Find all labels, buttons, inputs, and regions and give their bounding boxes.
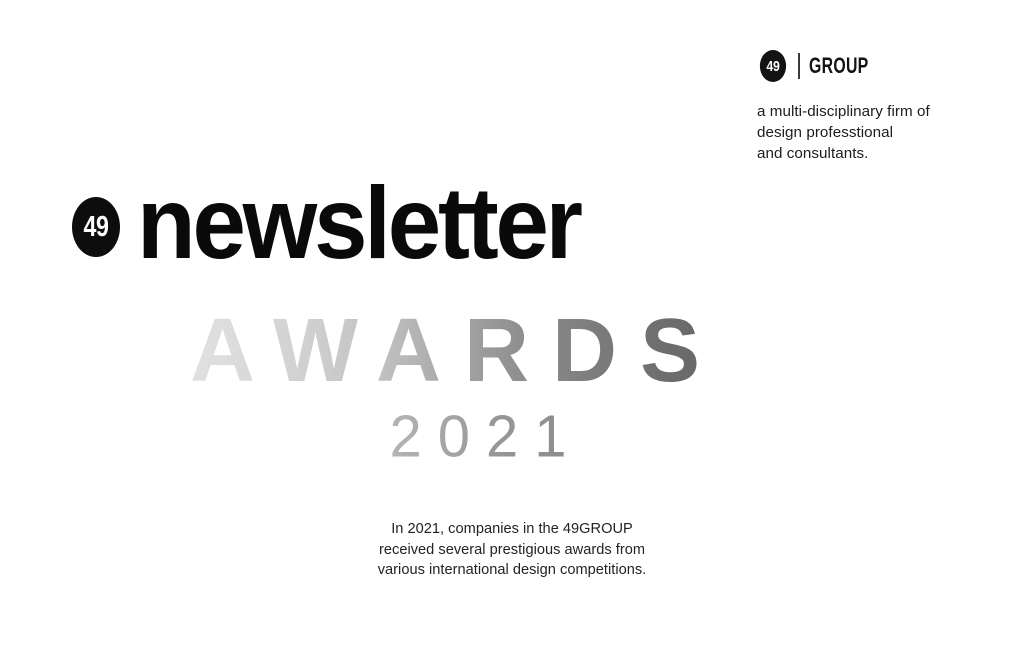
group-logo[interactable]: 49 GROUP bbox=[757, 48, 1007, 84]
intro-paragraph: In 2021, companies in the 49GROUP receiv… bbox=[312, 519, 712, 581]
corporate-identity-block: 49 GROUP a multi-disciplinary firm of de… bbox=[757, 48, 1007, 164]
poster-canvas: 49 GROUP a multi-disciplinary firm of de… bbox=[0, 0, 1024, 648]
newsletter-masthead: 49 newsletter bbox=[66, 176, 580, 272]
logo-divider bbox=[798, 53, 800, 79]
awards-year: 2021 bbox=[373, 407, 582, 466]
group-wordmark: GROUP bbox=[809, 55, 869, 77]
masthead-badge-49-icon: 49 bbox=[72, 197, 120, 257]
group-badge-49-icon: 49 bbox=[760, 50, 786, 82]
awards-year-block: 2021 bbox=[0, 408, 1024, 466]
identity-tagline: a multi-disciplinary firm of design prof… bbox=[757, 101, 1007, 164]
masthead-title: newsletter bbox=[137, 173, 580, 275]
awards-headline: AWARDS bbox=[167, 306, 723, 396]
awards-headline-block: AWARDS bbox=[0, 306, 1024, 396]
